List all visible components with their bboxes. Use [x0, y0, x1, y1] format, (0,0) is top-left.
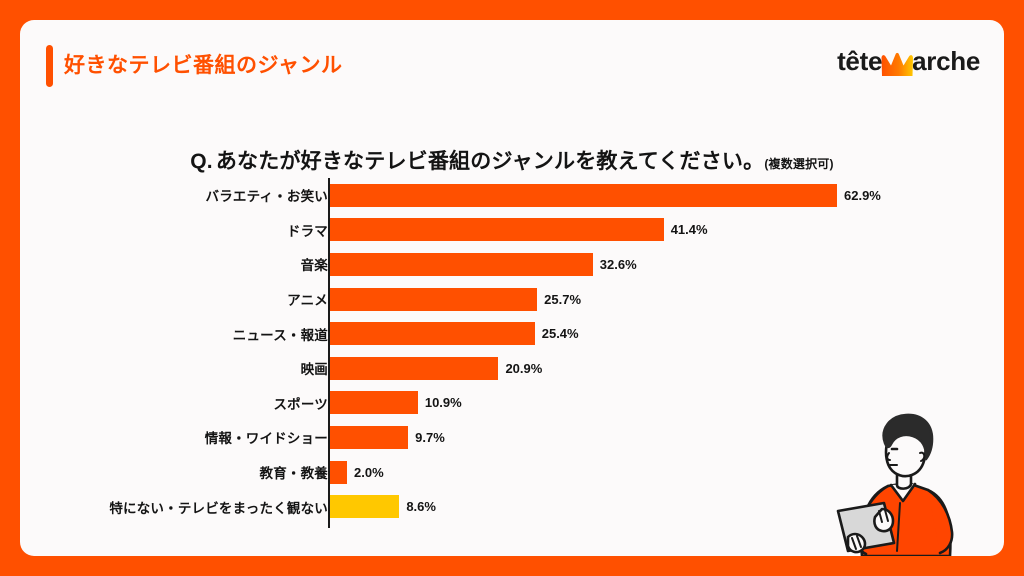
bar-group: 32.6% — [330, 247, 637, 282]
category-label: 音楽 — [20, 254, 328, 274]
bar — [330, 288, 537, 311]
chart-row: ドラマ41.4% — [20, 213, 1004, 248]
bar-value-label: 32.6% — [600, 257, 637, 272]
slide-card: 好きなテレビ番組のジャンル tête arche Q. — [20, 20, 1004, 556]
brand-logo: tête arche — [837, 46, 980, 77]
chart-row: アニメ25.7% — [20, 282, 1004, 317]
bar-group: 20.9% — [330, 351, 542, 386]
bar-group: 8.6% — [330, 489, 436, 524]
category-label: バラエティ・お笑い — [20, 185, 328, 205]
category-label: 情報・ワイドショー — [20, 427, 328, 447]
category-label: 特にない・テレビをまったく観ない — [20, 497, 328, 517]
category-label: ドラマ — [20, 220, 328, 240]
question-heading: Q.あなたが好きなテレビ番組のジャンルを教えてください。(複数選択可) — [20, 145, 1004, 175]
bar — [330, 461, 347, 484]
bar — [330, 218, 664, 241]
chart-row: ニュース・報道25.4% — [20, 316, 1004, 351]
bar-value-label: 41.4% — [671, 222, 708, 237]
title-accent-bar — [46, 45, 53, 87]
bar — [330, 184, 837, 207]
bar — [330, 357, 498, 380]
question-prefix: Q. — [190, 150, 213, 173]
logo-text-before: tête — [837, 46, 882, 77]
illustration-man-holding-tablet — [796, 391, 986, 556]
logo-crown-icon — [880, 51, 914, 77]
bar — [330, 495, 399, 518]
logo-text-after: arche — [912, 46, 980, 77]
bar-group: 10.9% — [330, 386, 462, 421]
slide-header: 好きなテレビ番組のジャンル tête arche — [20, 20, 1004, 130]
category-label: ニュース・報道 — [20, 324, 328, 344]
bar-value-label: 62.9% — [844, 188, 881, 203]
question-note: (複数選択可) — [764, 157, 833, 171]
category-label: アニメ — [20, 289, 328, 309]
bar-value-label: 2.0% — [354, 465, 384, 480]
bar — [330, 391, 418, 414]
bar — [330, 426, 408, 449]
category-label: 教育・教養 — [20, 462, 328, 482]
bar-group: 25.4% — [330, 316, 579, 351]
chart-row: 音楽32.6% — [20, 247, 1004, 282]
category-label: 映画 — [20, 358, 328, 378]
bar-value-label: 25.7% — [544, 292, 581, 307]
bar — [330, 322, 535, 345]
bar-value-label: 8.6% — [406, 499, 436, 514]
category-label: スポーツ — [20, 393, 328, 413]
bar — [330, 253, 593, 276]
bar-group: 9.7% — [330, 420, 445, 455]
question-text: あなたが好きなテレビ番組のジャンルを教えてください。 — [216, 150, 764, 173]
chart-row: バラエティ・お笑い62.9% — [20, 178, 1004, 213]
bar-group: 25.7% — [330, 282, 581, 317]
page-title: 好きなテレビ番組のジャンル — [64, 49, 342, 79]
bar-value-label: 10.9% — [425, 395, 462, 410]
bar-group: 2.0% — [330, 455, 384, 490]
bar-value-label: 25.4% — [542, 326, 579, 341]
bar-value-label: 9.7% — [415, 430, 445, 445]
bar-value-label: 20.9% — [505, 361, 542, 376]
chart-row: 映画20.9% — [20, 351, 1004, 386]
bar-group: 41.4% — [330, 213, 708, 248]
bar-group: 62.9% — [330, 178, 881, 213]
